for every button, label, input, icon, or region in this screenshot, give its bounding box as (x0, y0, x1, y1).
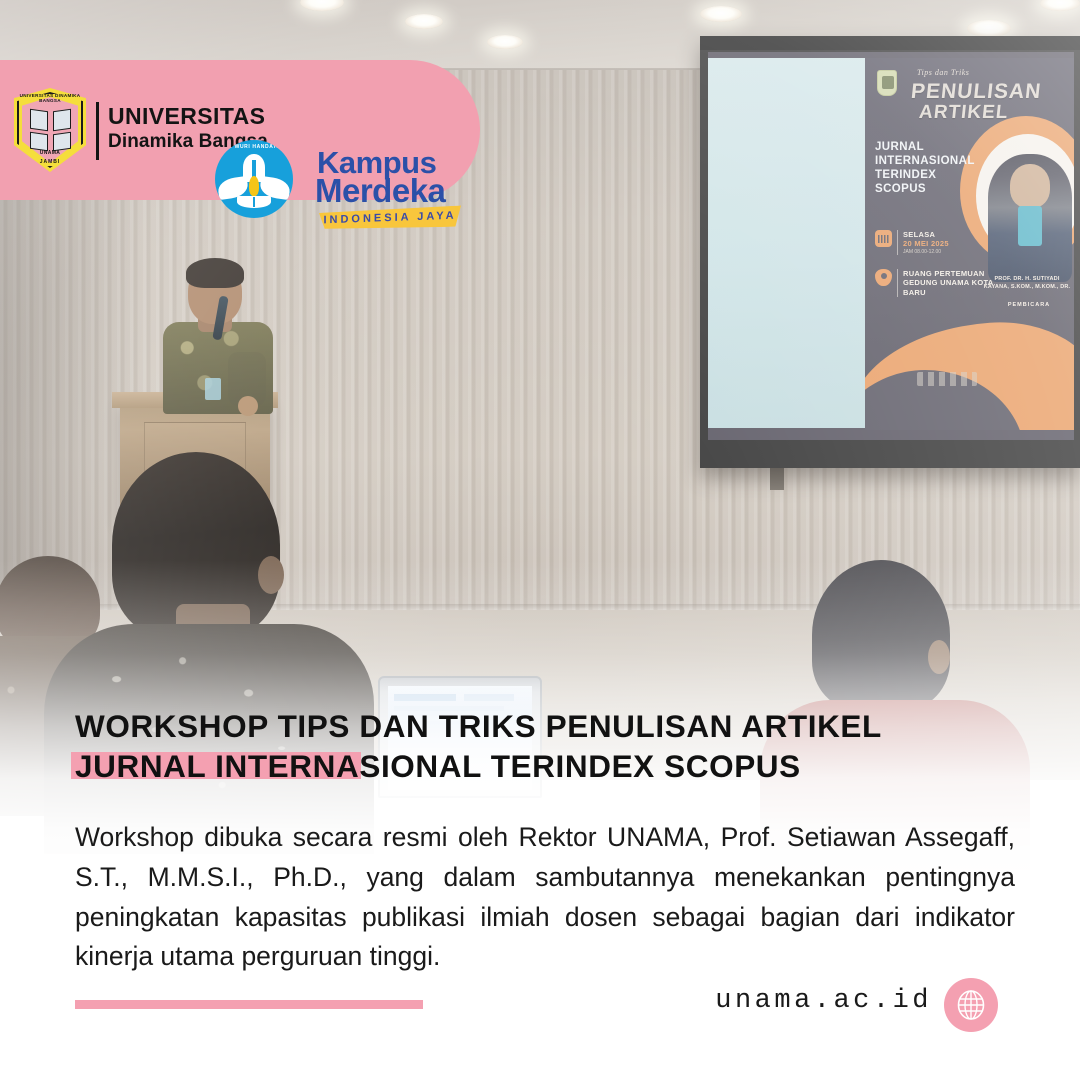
website-url: unama.ac.id (715, 986, 932, 1016)
tut-wuri-handayani-logo: TUT WURI HANDAYANI (215, 140, 293, 218)
shield-text-top: UNIVERSITAS DINAMIKA BANGSA (14, 93, 86, 103)
shield-outline (17, 92, 83, 168)
poster-canvas: Tips dan Triks PENULISAN ARTIKEL JURNAL … (0, 0, 1080, 1080)
university-name: UNIVERSITAS (108, 104, 265, 128)
body-paragraph: Workshop dibuka secara resmi oleh Rektor… (75, 818, 1015, 977)
title-line-1: WORKSHOP TIPS DAN TRIKS PENULISAN ARTIKE… (75, 706, 1015, 746)
universitas-dinamika-bangsa-logo: UNIVERSITAS DINAMIKA BANGSA UNAMA JAMBI (14, 88, 86, 172)
tut-wuri-ring-text: TUT WURI HANDAYANI (215, 144, 293, 150)
kampus-merdeka-logo: Kampus Merdeka INDONESIA JAYA (315, 148, 465, 232)
page-title: WORKSHOP TIPS DAN TRIKS PENULISAN ARTIKE… (75, 706, 1015, 787)
shield-text-bottom: JAMBI (14, 159, 86, 165)
title-line-2: JURNAL INTERNASIONAL TERINDEX SCOPUS (75, 748, 801, 784)
title-line-2-wrap: JURNAL INTERNASIONAL TERINDEX SCOPUS (75, 746, 801, 786)
kampus-merdeka-ribbon: INDONESIA JAYA (319, 206, 461, 232)
footer-rule (75, 1000, 423, 1009)
kampus-merdeka-line2: Merdeka (315, 175, 445, 207)
header-logo-badge: UNIVERSITAS DINAMIKA BANGSA UNAMA JAMBI … (0, 60, 480, 200)
logo-divider (96, 102, 99, 160)
kampus-merdeka-ribbon-text: INDONESIA JAYA (319, 210, 461, 227)
globe-icon (944, 978, 998, 1032)
tut-wuri-book-icon (237, 196, 271, 208)
shield-text-mid: UNAMA (14, 150, 86, 156)
tut-wuri-flame-icon (249, 176, 259, 196)
